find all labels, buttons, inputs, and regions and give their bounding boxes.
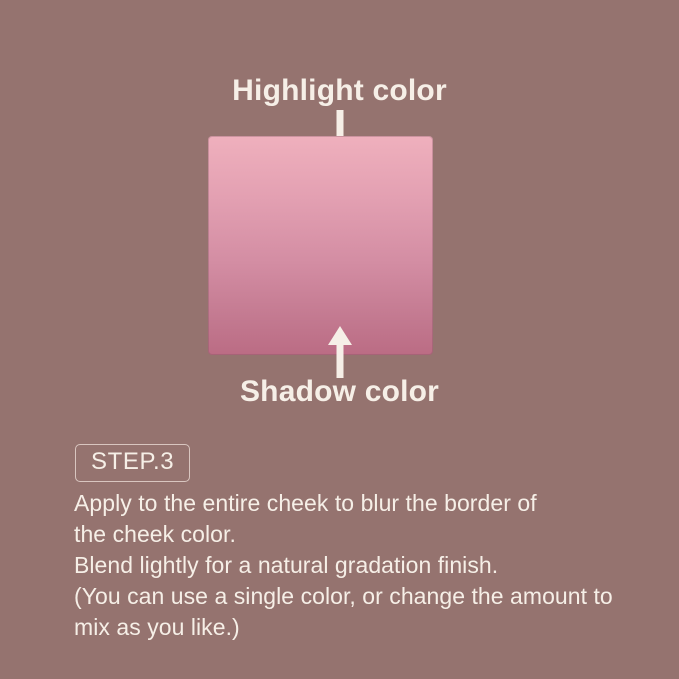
description-text: Apply to the entire cheek to blur the bo… bbox=[74, 488, 634, 643]
highlight-color-label: Highlight color bbox=[0, 76, 679, 106]
step-badge: STEP.3 bbox=[75, 444, 190, 482]
description-line: (You can use a single color, or change t… bbox=[74, 581, 634, 612]
description-line: Apply to the entire cheek to blur the bo… bbox=[74, 488, 634, 519]
description-line: mix as you like.) bbox=[74, 612, 634, 643]
instruction-card: Highlight color Shadow color STEP.3 Appl… bbox=[0, 0, 679, 679]
description-line: the cheek color. bbox=[74, 519, 634, 550]
description-line: Blend lightly for a natural gradation fi… bbox=[74, 550, 634, 581]
gradient-color-swatch bbox=[208, 136, 433, 355]
shadow-color-label: Shadow color bbox=[0, 377, 679, 407]
arrow-up-icon bbox=[325, 326, 355, 378]
